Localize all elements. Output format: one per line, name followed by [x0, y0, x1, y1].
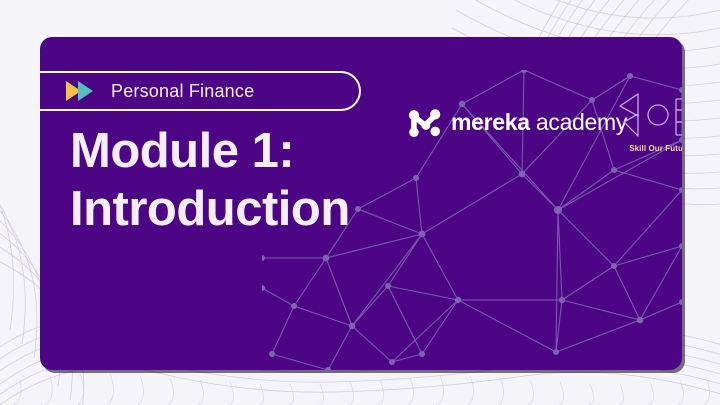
skill-our-future-logo: Skill Our Future	[612, 92, 682, 153]
double-play-triangle-icon	[66, 80, 100, 102]
brand-name-mereka: mereka	[451, 109, 530, 135]
mereka-wordmark: mereka academy	[451, 109, 627, 136]
skill-our-future-tagline: Skill Our Future	[612, 144, 682, 153]
slide-canvas: Personal Finance mereka academy	[0, 0, 720, 405]
mereka-node-m-icon	[408, 105, 442, 139]
sof-monogram-icon	[614, 92, 682, 138]
slide-card: Personal Finance mereka academy	[40, 37, 682, 370]
category-badge-label: Personal Finance	[111, 81, 254, 102]
slide-title: Module 1: Introduction	[70, 123, 350, 239]
category-badge: Personal Finance	[40, 71, 361, 111]
mereka-academy-logo: mereka academy	[408, 105, 627, 139]
